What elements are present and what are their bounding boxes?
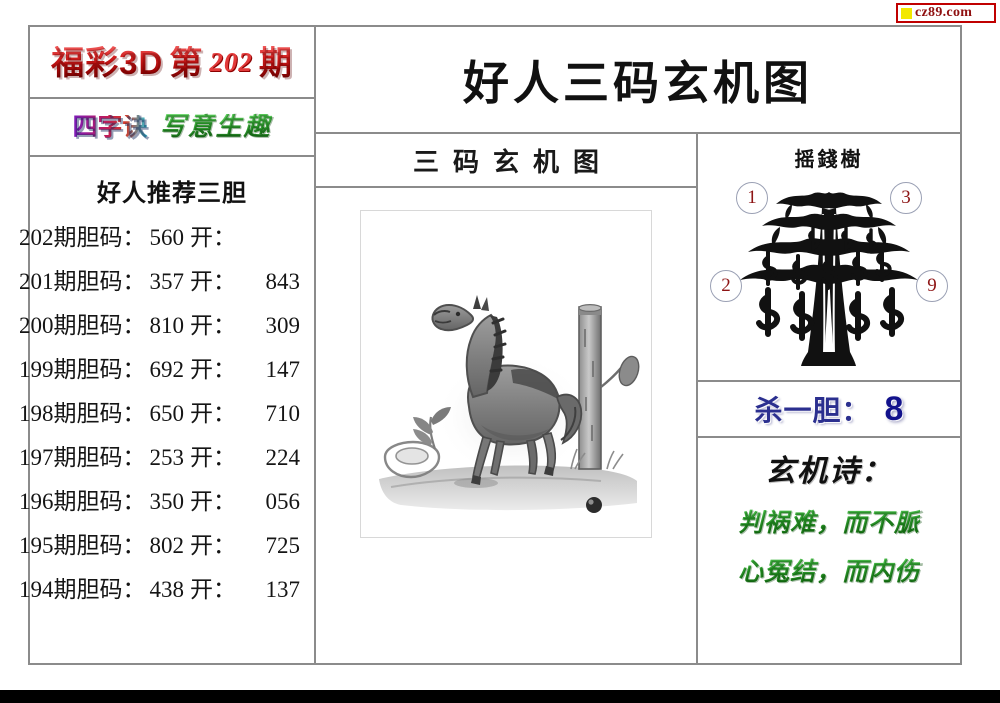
poem-line-1: 判祸难，而不脈 <box>738 503 920 539</box>
issue-number-label: 202 <box>209 47 253 78</box>
row-issue-label: 195期胆码： <box>19 524 146 568</box>
row-issue-label: 196期胆码： <box>19 480 146 524</box>
motto-label: 四字诀 <box>72 115 147 140</box>
row-dan-value: 692 <box>146 348 185 392</box>
row-dan-value: 438 <box>146 568 185 612</box>
row-result-value: 710 <box>236 392 300 436</box>
row-kai-label: 开： <box>184 524 236 568</box>
row-result-value: 137 <box>236 568 300 612</box>
poem-line-2: 心冤结，而内伤 <box>738 552 920 588</box>
tree-number-1: 1 <box>736 182 768 214</box>
money-tree-title: 摇錢樹 <box>795 143 864 172</box>
row-result-value: 309 <box>236 304 300 348</box>
row-issue-label: 199期胆码： <box>19 348 146 392</box>
table-row: 198期胆码：650开：710 <box>30 392 314 436</box>
table-row: 200期胆码：810开：309 <box>30 304 314 348</box>
row-issue-label: 198期胆码： <box>19 392 146 436</box>
row-result-value: 224 <box>236 436 300 480</box>
poem-panel: 玄机诗： 判祸难，而不脈 心冤结，而内伤 <box>698 438 960 663</box>
row-dan-value: 810 <box>146 304 185 348</box>
kill-number-value: 8 <box>885 390 904 429</box>
recommendation-title: 好人推荐三胆 <box>30 173 314 208</box>
table-row: 196期胆码：350开：056 <box>30 480 314 524</box>
row-kai-label: 开： <box>184 568 236 612</box>
ink-horse-drawing <box>360 210 652 538</box>
motto-text: 写意生趣 <box>160 114 272 140</box>
row-result-value: 725 <box>236 524 300 568</box>
row-issue-label: 202期胆码： <box>19 216 146 260</box>
page-title: 好人三码玄机图 <box>316 27 960 134</box>
row-issue-label: 201期胆码： <box>19 260 146 304</box>
row-issue-label: 197期胆码： <box>19 436 146 480</box>
recommendation-panel: 好人推荐三胆 202期胆码：560开：201期胆码：357开：843200期胆码… <box>30 157 314 663</box>
row-kai-label: 开： <box>184 392 236 436</box>
tree-number-2: 2 <box>710 270 742 302</box>
right-column: 摇錢樹 1 3 2 9 <box>698 134 960 663</box>
table-row: 195期胆码：802开：725 <box>30 524 314 568</box>
row-issue-label: 194期胆码： <box>19 568 146 612</box>
page-title-text: 好人三码玄机图 <box>463 47 813 113</box>
illustration-area <box>316 188 696 663</box>
row-dan-value: 350 <box>146 480 185 524</box>
row-dan-value: 253 <box>146 436 185 480</box>
row-result-value: 147 <box>236 348 300 392</box>
table-row: 194期胆码：438开：137 <box>30 568 314 612</box>
motto-block: 四字诀 写意生趣 <box>30 99 314 157</box>
bottom-black-strip <box>0 690 1000 703</box>
history-list: 202期胆码：560开：201期胆码：357开：843200期胆码：810开：3… <box>30 216 314 663</box>
row-kai-label: 开： <box>184 260 236 304</box>
table-row: 201期胆码：357开：843 <box>30 260 314 304</box>
row-result-value: 056 <box>236 480 300 524</box>
table-row: 197期胆码：253开：224 <box>30 436 314 480</box>
lower-area: 三码玄机图 <box>316 134 960 663</box>
money-tree-panel: 摇錢樹 1 3 2 9 <box>698 134 960 382</box>
row-kai-label: 开： <box>184 436 236 480</box>
row-result-value: 843 <box>236 260 300 304</box>
row-kai-label: 开： <box>184 216 236 260</box>
lottery-name-label: 福彩3D <box>51 46 163 79</box>
watermark-label: cz89.com <box>915 6 972 20</box>
poem-title: 玄机诗： <box>765 446 893 490</box>
row-issue-label: 200期胆码： <box>19 304 146 348</box>
row-dan-value: 650 <box>146 392 185 436</box>
row-kai-label: 开： <box>184 304 236 348</box>
watermark-badge: cz89.com <box>896 3 996 23</box>
screenshot-canvas: cz89.com 福彩3D 第 202 期 四字诀 写意生趣 好人推荐三胆 20… <box>0 0 1000 703</box>
row-dan-value: 560 <box>146 216 185 260</box>
row-dan-value: 802 <box>146 524 185 568</box>
main-area: 好人三码玄机图 三码玄机图 <box>316 27 960 663</box>
kill-number-panel: 杀一胆： 8 <box>698 382 960 438</box>
watermark-square-icon <box>901 8 912 19</box>
poster-frame: 福彩3D 第 202 期 四字诀 写意生趣 好人推荐三胆 202期胆码：560开… <box>28 25 962 665</box>
issue-suffix-label: 期 <box>259 46 293 79</box>
center-subtitle-text: 三码玄机图 <box>399 142 613 179</box>
lottery-title-block: 福彩3D 第 202 期 <box>30 27 314 99</box>
center-column: 三码玄机图 <box>316 134 698 663</box>
tree-number-3: 3 <box>890 182 922 214</box>
issue-prefix-label: 第 <box>169 46 203 79</box>
left-column: 福彩3D 第 202 期 四字诀 写意生趣 好人推荐三胆 202期胆码：560开… <box>30 27 316 663</box>
row-kai-label: 开： <box>184 348 236 392</box>
kill-number-label: 杀一胆： <box>755 389 871 429</box>
money-tree-graphic: 1 3 2 9 <box>704 174 954 370</box>
tree-number-9: 9 <box>916 270 948 302</box>
center-subtitle-box: 三码玄机图 <box>316 134 696 188</box>
table-row: 199期胆码：692开：147 <box>30 348 314 392</box>
table-row: 202期胆码：560开： <box>30 216 314 260</box>
row-kai-label: 开： <box>184 480 236 524</box>
row-dan-value: 357 <box>146 260 185 304</box>
